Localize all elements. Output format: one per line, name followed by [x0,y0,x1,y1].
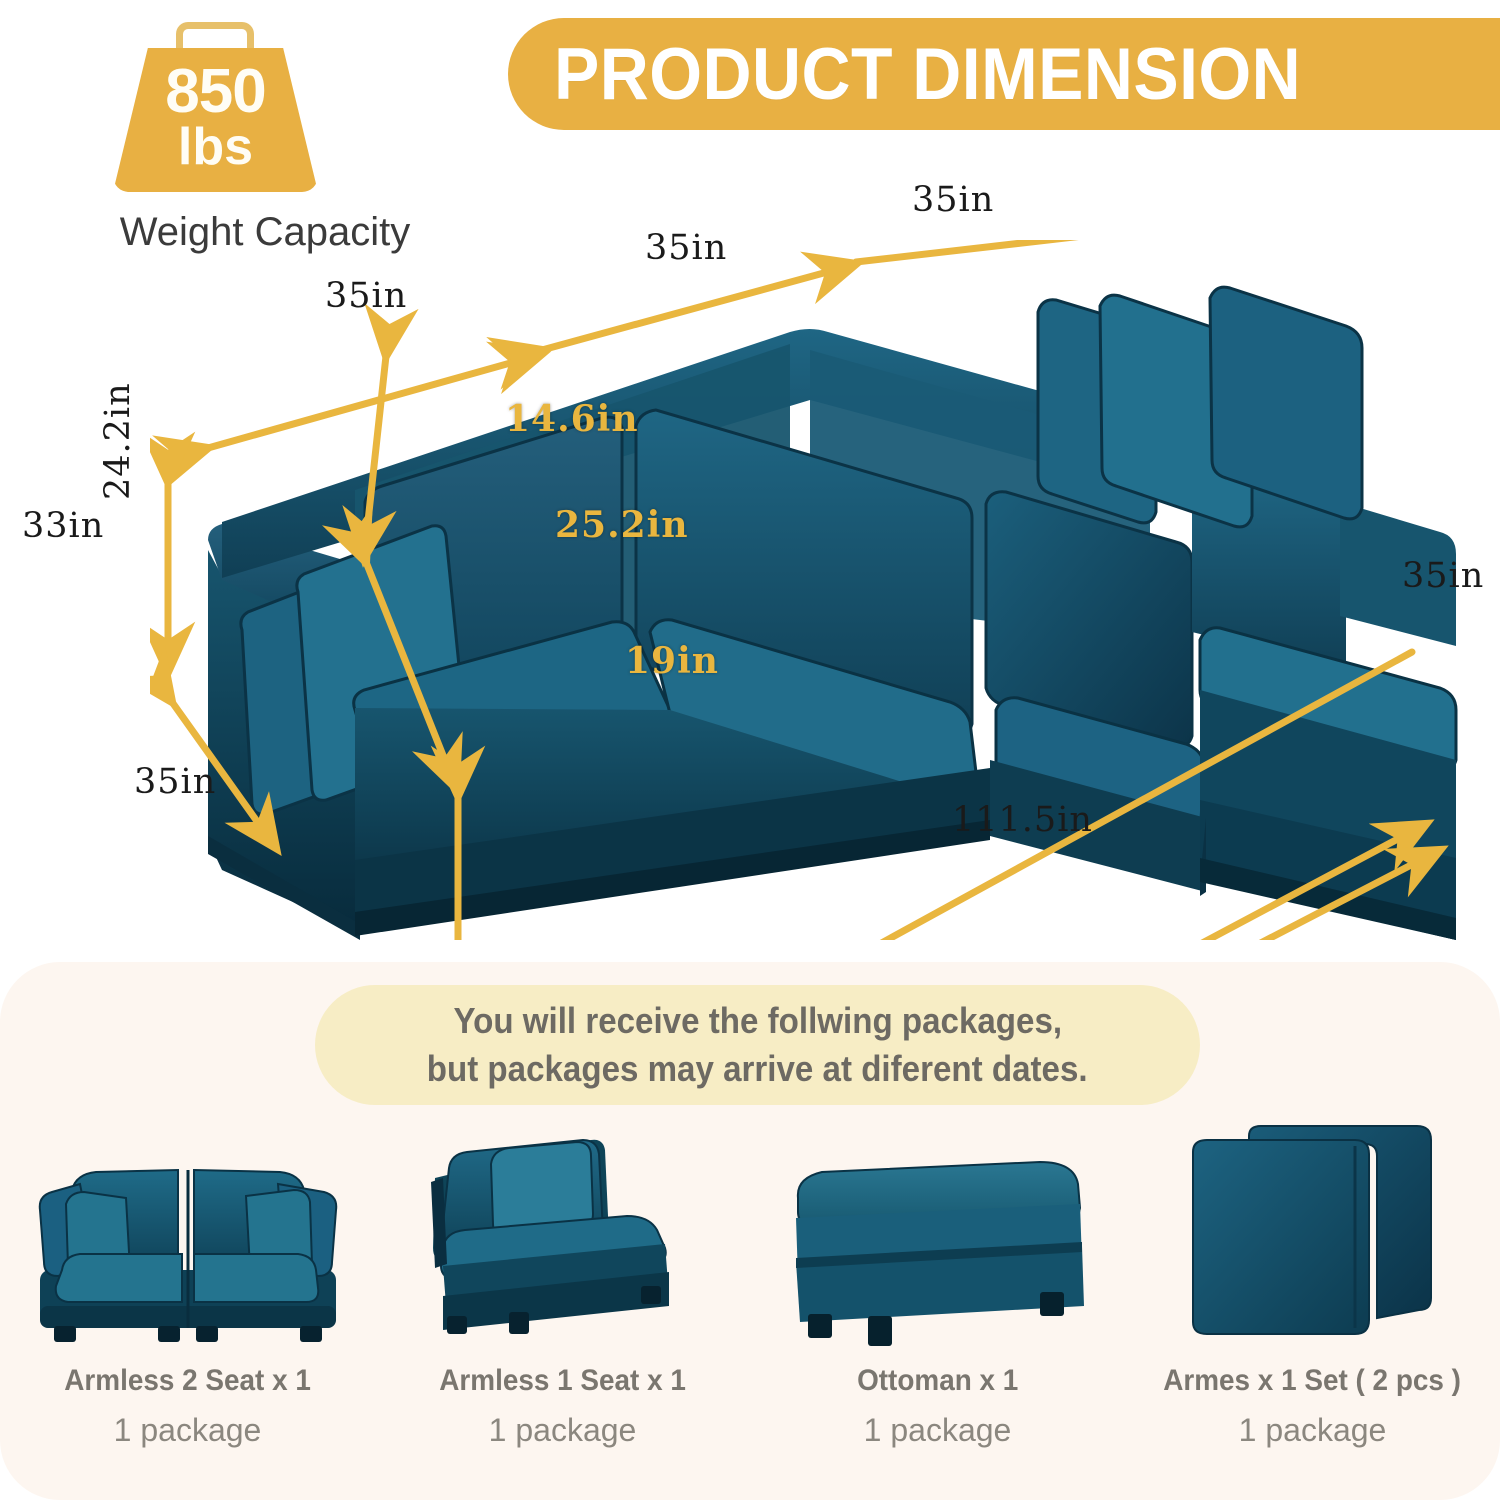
dim-label-depth-right: 35in [1402,556,1484,596]
chaise-module [1200,628,1456,940]
dim-label-overall-height: 33in [22,506,104,546]
armless-1-seat-icon [375,1120,750,1350]
package-subtitle: 1 package [114,1412,262,1449]
dim-label-top-3: 35in [912,180,994,220]
dim-label-back-height: 14.6in [505,398,639,440]
package-title: Armes x 1 Set ( 2 pcs ) [1164,1364,1462,1398]
dimline-top-1 [208,358,528,448]
product-dimension-banner: PRODUCT DIMENSION [508,18,1500,130]
dim-label-overall-length: 111.5in [952,800,1093,840]
weight-capacity-value: 850 [113,64,318,120]
package-subtitle: 1 package [489,1412,637,1449]
weight-capacity-unit: lbs [113,123,318,171]
package-subtitle: 1 package [864,1412,1012,1449]
dim-label-top-1: 35in [325,276,407,316]
throw-pillows-right [1038,287,1362,527]
page-title: PRODUCT DIMENSION [554,33,1301,116]
package-item: Armless 1 Seat x 1 1 package [375,1120,750,1480]
dim-label-seat-height: 19in [625,640,719,682]
package-title: Armless 1 Seat x 1 [439,1364,686,1398]
package-item: Ottoman x 1 1 package [750,1120,1125,1480]
dim-label-back-height-side: 24.2in [98,382,138,500]
dimline-top-3 [856,240,1240,262]
armless-2-seat-icon [0,1120,375,1350]
weight-block-icon: 850 lbs [113,22,318,192]
dim-label-top-2: 35in [645,228,727,268]
sectional-sofa-diagram [150,240,1470,940]
infographic-root: PRODUCT DIMENSION 850 lbs Weight Capacit… [0,0,1500,1500]
arms-set-icon [1125,1120,1500,1350]
packages-callout: You will receive the follwing packages, … [315,985,1200,1105]
dim-label-seat-diagonal: 25.2in [555,504,689,546]
package-title: Ottoman x 1 [857,1364,1018,1398]
package-item: Armless 2 Seat x 1 1 package [0,1120,375,1480]
package-title: Armless 2 Seat x 1 [64,1364,311,1398]
package-subtitle: 1 package [1239,1412,1387,1449]
callout-line-1: You will receive the follwing packages, [453,997,1062,1045]
package-item: Armes x 1 Set ( 2 pcs ) 1 package [1125,1120,1500,1480]
dim-label-depth-left: 35in [134,762,216,802]
weight-capacity-badge: 850 lbs Weight Capacity [95,22,425,247]
ottoman-icon [750,1120,1125,1350]
packages-grid: Armless 2 Seat x 1 1 package [0,1120,1500,1480]
callout-line-2: but packages may arrive at diferent date… [427,1045,1088,1093]
